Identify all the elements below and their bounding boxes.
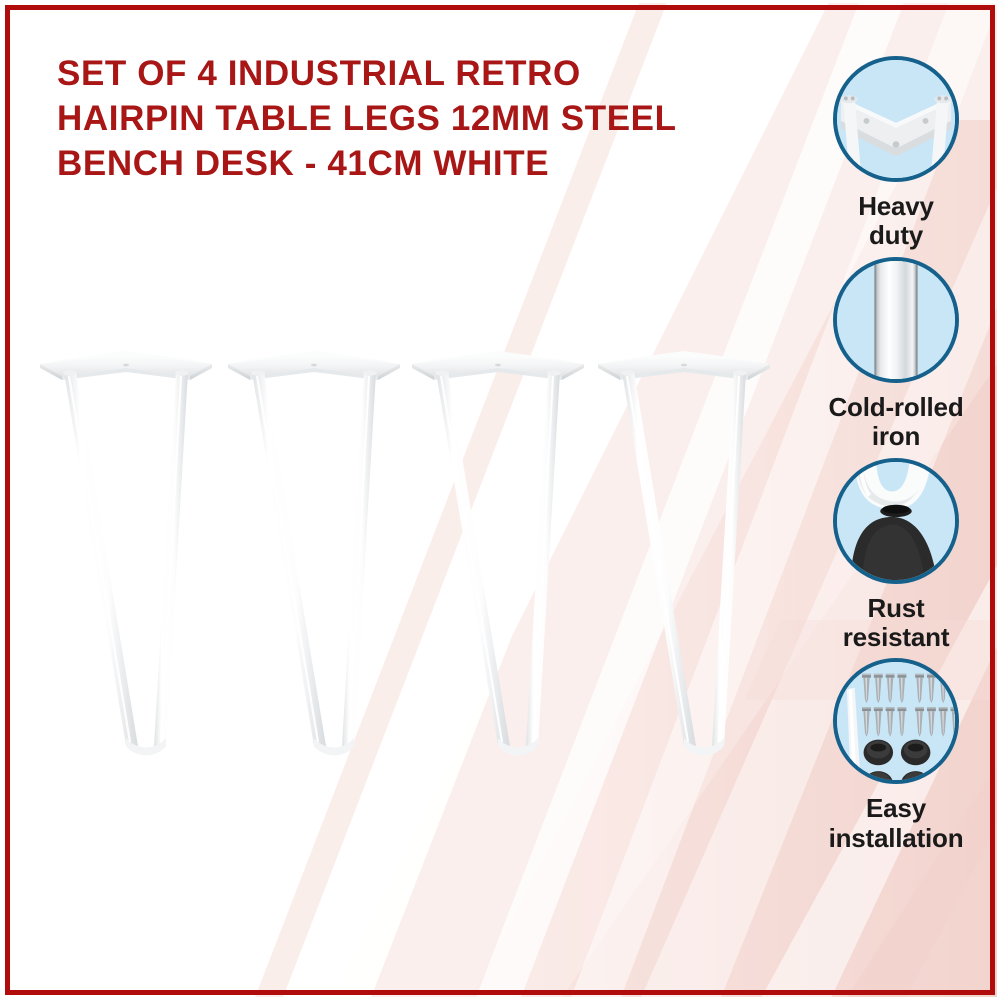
- feature-label-line-1: Heavy: [806, 192, 986, 221]
- hairpin-leg-1: [40, 351, 212, 755]
- chevron-bracket-icon: [837, 60, 955, 178]
- metal-tube-icon: [837, 261, 955, 379]
- feature-label-line-2: duty: [806, 221, 986, 250]
- feature-label: Heavy duty: [806, 192, 986, 251]
- page-title: SET OF 4 INDUSTRIAL RETRO HAIRPIN TABLE …: [57, 52, 717, 186]
- feature-icon-circle: [833, 458, 959, 584]
- feature-label: Rust resistant: [806, 594, 986, 653]
- feature-rust-resistant: Rust resistant: [806, 458, 986, 653]
- feature-icon-circle: [833, 658, 959, 784]
- hairpin-leg-3: [412, 351, 584, 755]
- product-banner: SET OF 4 INDUSTRIAL RETRO HAIRPIN TABLE …: [0, 0, 1000, 1000]
- feature-heavy-duty: Heavy duty: [806, 56, 986, 251]
- feature-label-line-2: resistant: [806, 623, 986, 652]
- title-line-2: HAIRPIN TABLE LEGS 12MM STEEL: [57, 97, 717, 142]
- feature-icon-circle: [833, 56, 959, 182]
- hairpin-leg-2: [228, 351, 400, 755]
- feature-label: Easy installation: [806, 794, 986, 853]
- feature-label-line-1: Rust: [806, 594, 986, 623]
- feature-cold-rolled-iron: Cold-rolled iron: [806, 257, 986, 452]
- feature-easy-installation: Easy installation: [806, 658, 986, 853]
- feature-icon-circle: [833, 257, 959, 383]
- feature-label-line-1: Easy: [806, 794, 986, 823]
- hairpin-leg-4: [598, 351, 770, 755]
- feature-label-line-2: installation: [806, 824, 986, 853]
- feature-list: Heavy duty: [806, 56, 986, 859]
- title-line-3: BENCH DESK - 41CM WHITE: [57, 142, 717, 187]
- product-image-hairpin-legs: [0, 330, 800, 830]
- feature-label-line-2: iron: [806, 422, 986, 451]
- screws-and-pads-icon: [837, 662, 955, 780]
- feature-label: Cold-rolled iron: [806, 393, 986, 452]
- title-line-1: SET OF 4 INDUSTRIAL RETRO: [57, 52, 717, 97]
- feature-label-line-1: Cold-rolled: [806, 393, 986, 422]
- rubber-foot-icon: [837, 462, 955, 580]
